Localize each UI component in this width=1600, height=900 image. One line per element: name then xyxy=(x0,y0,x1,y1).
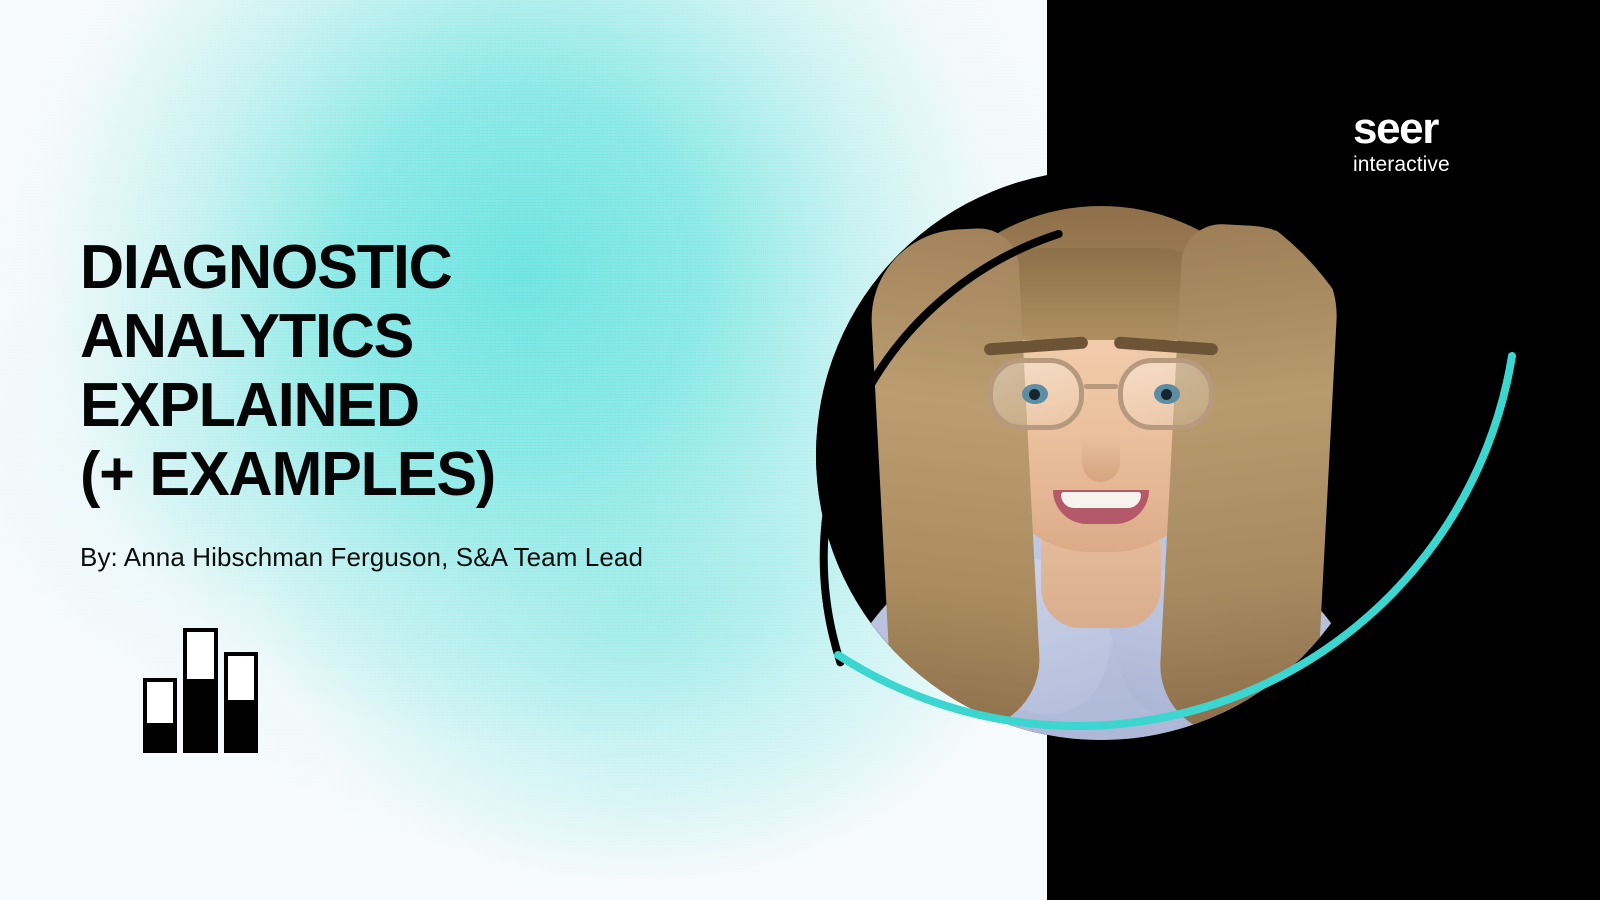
eyeglasses xyxy=(988,358,1214,430)
author-byline: By: Anna Hibschman Ferguson, S&A Team Le… xyxy=(80,542,643,573)
eye-left xyxy=(1022,384,1048,404)
hair-left xyxy=(867,226,1043,733)
bar-chart-bar-2 xyxy=(185,630,216,751)
headline-line-3: EXPLAINED xyxy=(80,371,691,440)
eye-right xyxy=(1154,384,1180,404)
bar-chart-bar-1 xyxy=(145,680,175,751)
headline-line-1: DIAGNOSTIC xyxy=(80,233,691,302)
banner-canvas: DIAGNOSTIC ANALYTICS EXPLAINED (+ EXAMPL… xyxy=(0,0,1600,900)
hair-right xyxy=(1157,222,1341,740)
page-title: DIAGNOSTIC ANALYTICS EXPLAINED (+ EXAMPL… xyxy=(80,233,700,509)
bar-chart-bar-3 xyxy=(226,654,256,751)
bar-chart-icon xyxy=(143,628,258,753)
teeth xyxy=(1061,492,1141,508)
seer-interactive-wordmark[interactable]: seer interactive xyxy=(1353,108,1450,178)
brand-tagline: interactive xyxy=(1353,152,1450,178)
nose xyxy=(1082,438,1120,482)
brand-name: seer xyxy=(1353,108,1450,150)
headline-line-4: (+ EXAMPLES) xyxy=(80,440,691,509)
glasses-bridge xyxy=(1084,384,1118,389)
headline-line-2: ANALYTICS xyxy=(80,302,691,371)
author-portrait-photo xyxy=(816,170,1386,740)
